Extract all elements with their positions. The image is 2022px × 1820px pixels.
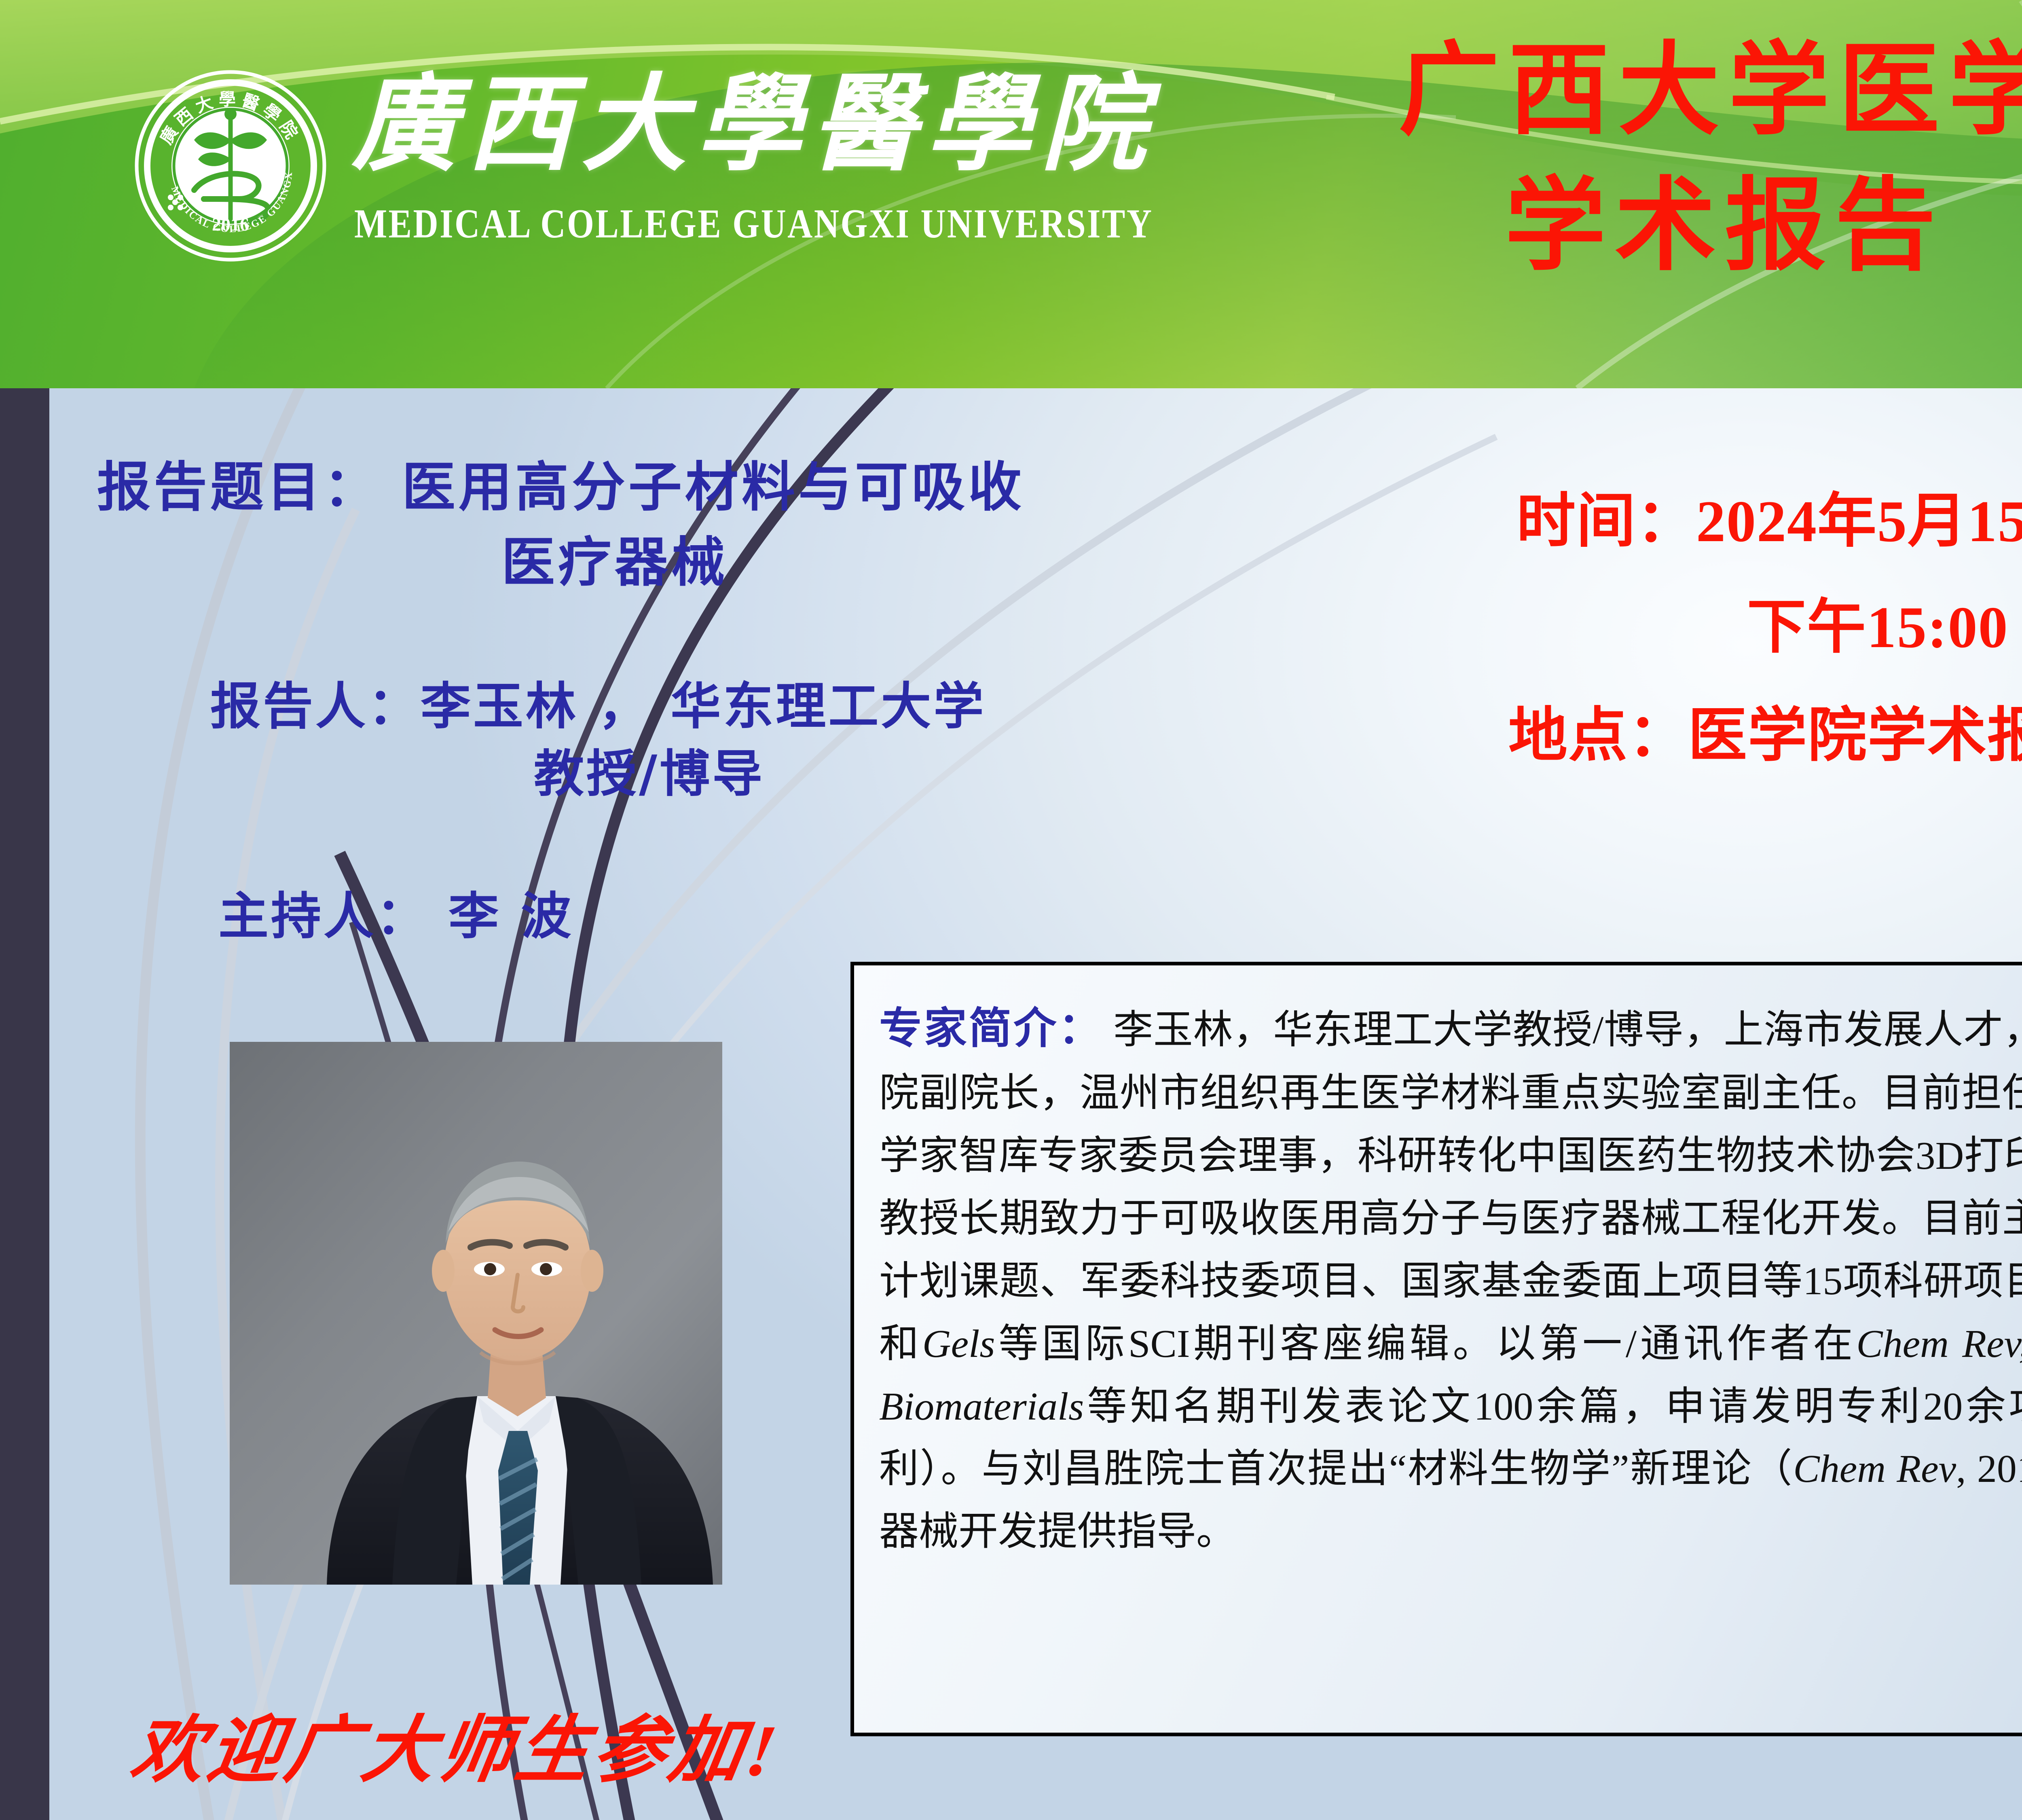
poster-header-band: 2016 廣西大學醫學院 MEDICAL COLLEGE GUANGXI UNI… (0, 0, 2022, 388)
bio-mid-2: 等国际SCI期刊客座编辑。以第一/通讯作者在 (995, 1322, 1857, 1366)
expert-bio-text: 专家简介： 李玉林，华东理工大学教授/博导，上海市发展人才，上海大学温州研究院副… (879, 995, 2022, 1563)
place-line: 地点：医学院学术报告厅 (1504, 700, 2022, 772)
expert-bio-box: 专家简介： 李玉林，华东理工大学教授/博导，上海市发展人才，上海大学温州研究院副… (850, 962, 2022, 1736)
welcome-slogan: 欢迎广大师生参加! (125, 1691, 869, 1796)
title-line-1: 广西大学医学院 (1254, 28, 2022, 152)
speaker-line-1: 报告人：李玉林 ， 华东理工大学 (73, 674, 1456, 739)
talk-info-block: 报告题目： 医用高分子材料与可吸收 医疗器械 报告人：李玉林 ， 华东理工大学 … (73, 453, 1456, 949)
host-line: 主持人： 李 波 (73, 884, 1456, 949)
talk-title-line-1: 报告题目： 医用高分子材料与可吸收 (73, 453, 1456, 523)
speaker-photo (230, 1042, 722, 1585)
bio-mid-1: 和 (879, 1322, 922, 1366)
speaker-portrait-illustration (230, 1042, 722, 1585)
time-place-block: 时间：2024年5月15日 下午15:00 地点：医学院学术报告厅 (1504, 485, 2022, 772)
time-line-2: 下午15:00 (1504, 591, 2022, 663)
time-line-1: 时间：2024年5月15日 (1504, 485, 2022, 557)
bio-journal-2: Gels (922, 1322, 995, 1366)
college-logo: 2016 廣西大學醫學院 MEDICAL COLLEGE GUANGXI UNI… (133, 61, 1084, 287)
talk-title-line-2: 医疗器械 (73, 528, 1456, 598)
college-name-cn: 廣西大學醫學院 (352, 73, 1064, 178)
college-emblem-icon: 2016 廣西大學醫學院 MEDICAL COLLEGE GUANGXI UNI… (133, 69, 328, 263)
seminar-poster: 2016 廣西大學醫學院 MEDICAL COLLEGE GUANGXI UNI… (0, 0, 2022, 1820)
bio-heading: 专家简介： (879, 1003, 1103, 1053)
bio-journal-4: Chem Rev (1793, 1447, 1956, 1491)
poster-main-title: 广西大学医学院 学术报告 (1254, 28, 2022, 287)
speaker-line-2: 教授/博导 (73, 742, 1456, 807)
college-name-en: MEDICAL COLLEGE GUANGXI UNIVERSITY (354, 203, 1066, 244)
title-line-2: 学术报告 (1136, 164, 2022, 287)
